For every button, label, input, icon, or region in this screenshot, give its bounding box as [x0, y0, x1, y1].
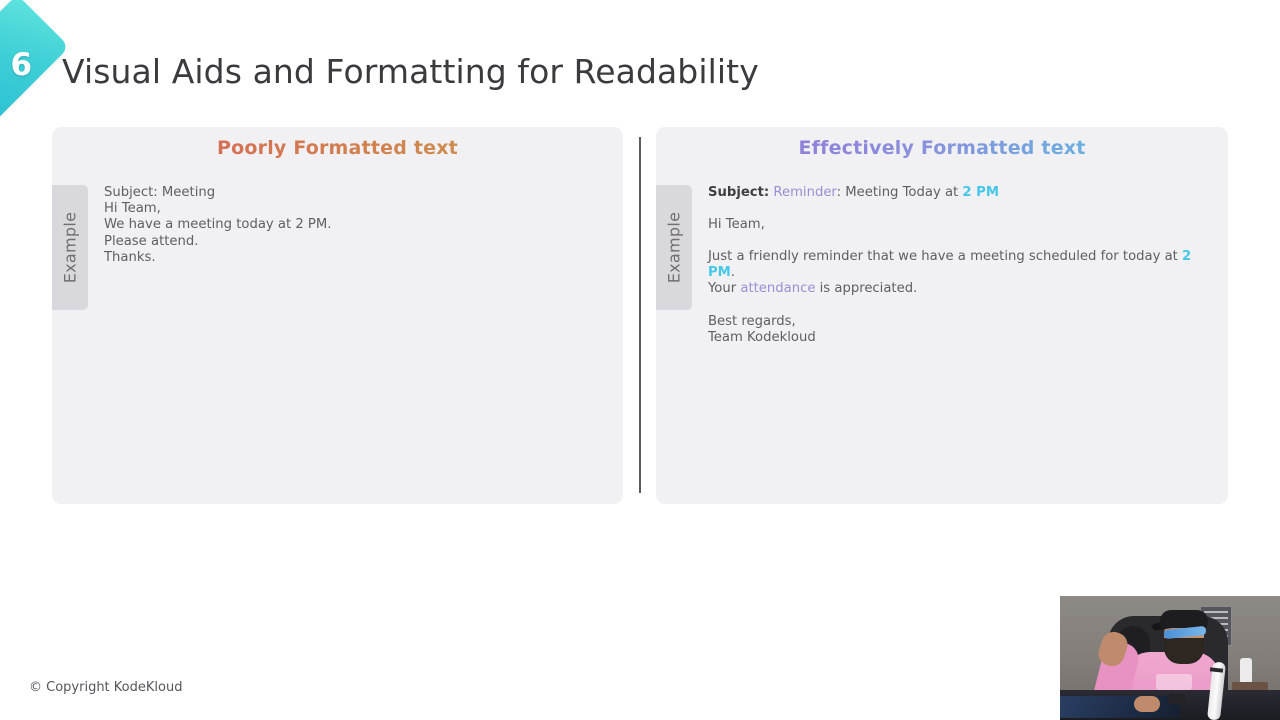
webcam-lamp	[1240, 658, 1252, 684]
good-signoff-block: Best regards, Team Kodekloud	[708, 314, 1210, 346]
webcam-overlay	[1060, 596, 1280, 720]
good-body-line-2: Your attendance is appreciated.	[708, 281, 1210, 297]
good-subject-highlight: Reminder	[773, 185, 836, 200]
poor-line-request: Please attend.	[104, 234, 605, 250]
slide-number-label: 6	[4, 50, 38, 81]
good-body-line-1: Just a friendly reminder that we have a …	[708, 249, 1210, 281]
card-poorly-formatted: Poorly Formatted text Example Subject: M…	[52, 127, 623, 504]
vertical-divider	[639, 137, 641, 493]
good-body-part3: Your	[708, 281, 736, 296]
good-body-part1: Just a friendly reminder that we have a …	[708, 249, 1178, 264]
slide-number-badge: 6	[0, 0, 52, 122]
card-poorly-formatted-body: Subject: Meeting Hi Team, We have a meet…	[104, 185, 605, 266]
webcam-person-beard	[1164, 638, 1204, 664]
good-signoff-line-2: Team Kodekloud	[708, 330, 1210, 346]
card-effectively-formatted-heading: Effectively Formatted text	[656, 127, 1228, 159]
webcam-person-watch	[1168, 694, 1186, 704]
good-subject-line: Subject: Reminder: Meeting Today at 2 PM	[708, 185, 1210, 201]
poor-line-body: We have a meeting today at 2 PM.	[104, 217, 605, 233]
good-body-part2: .	[731, 265, 735, 280]
webcam-desk-mat	[1060, 696, 1180, 718]
card-effectively-formatted-body: Subject: Reminder: Meeting Today at 2 PM…	[708, 185, 1210, 346]
example-tab-left-label: Example	[61, 212, 80, 284]
example-tab-right: Example	[656, 185, 692, 310]
good-subject-mid: : Meeting Today at	[837, 185, 959, 200]
good-subject-label: Subject:	[708, 185, 769, 200]
example-tab-right-label: Example	[665, 212, 684, 284]
good-signoff-line-1: Best regards,	[708, 314, 1210, 330]
webcam-person-hand	[1134, 696, 1160, 712]
poor-line-subject: Subject: Meeting	[104, 185, 605, 201]
poor-line-greeting: Hi Team,	[104, 201, 605, 217]
poor-email-block: Subject: Meeting Hi Team, We have a meet…	[104, 185, 605, 266]
card-poorly-formatted-heading: Poorly Formatted text	[52, 127, 623, 159]
page-title: Visual Aids and Formatting for Readabili…	[62, 52, 759, 91]
good-subject-time: 2 PM	[962, 185, 999, 200]
good-body-block: Just a friendly reminder that we have a …	[708, 249, 1210, 298]
example-tab-left: Example	[52, 185, 88, 310]
good-greeting: Hi Team,	[708, 217, 1210, 233]
good-body-part4: is appreciated.	[820, 281, 918, 296]
poor-line-signoff: Thanks.	[104, 250, 605, 266]
card-effectively-formatted: Effectively Formatted text Example Subje…	[656, 127, 1228, 504]
copyright-footer: © Copyright KodeKloud	[29, 680, 182, 695]
good-body-link: attendance	[740, 281, 815, 296]
webcam-shirt-logo	[1156, 674, 1192, 690]
